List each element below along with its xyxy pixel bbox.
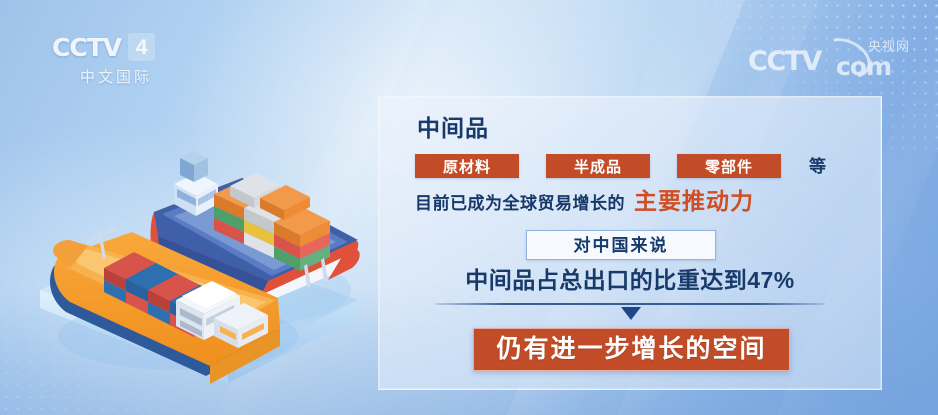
channel-subtitle: 中文国际 bbox=[52, 66, 180, 87]
divider-rule bbox=[435, 303, 825, 305]
cctv4-channel-bug: CCTV 4 中文国际 bbox=[52, 32, 192, 88]
cctv-com-suffix: com bbox=[836, 54, 891, 79]
panel-title: 中间品 bbox=[417, 117, 489, 140]
arrow-down-icon bbox=[621, 307, 641, 320]
info-panel: 中间品 原材料 半成品 零部件 等 目前已成为全球贸易增长的 主要推动力 对中国… bbox=[378, 96, 882, 390]
conclusion-banner: 仍有进一步增长的空间 bbox=[473, 328, 790, 371]
export-share-statistic: 中间品占总出口的比重达到47% bbox=[379, 269, 881, 292]
cctv-wordmark: CCTV bbox=[52, 35, 121, 60]
cctv-com-watermark: CCTV 央视网 com bbox=[748, 42, 916, 84]
channel-number: 4 bbox=[136, 37, 148, 58]
category-tag[interactable]: 原材料 bbox=[415, 154, 519, 178]
tags-suffix-label: 等 bbox=[809, 158, 826, 175]
category-tag[interactable]: 零部件 bbox=[677, 154, 781, 178]
growth-driver-lead-text: 目前已成为全球贸易增长的 bbox=[415, 195, 625, 212]
growth-driver-line: 目前已成为全球贸易增长的 主要推动力 bbox=[415, 190, 754, 213]
china-context-box: 对中国来说 bbox=[526, 230, 716, 260]
china-context-label: 对中国来说 bbox=[574, 237, 669, 254]
ship-bridge bbox=[174, 151, 218, 216]
cctv-wordmark: CCTV bbox=[748, 48, 821, 75]
category-tag[interactable]: 半成品 bbox=[546, 154, 650, 178]
broadcast-graphic-screen: CCTV 4 中文国际 CCTV 央视网 com bbox=[0, 0, 938, 415]
category-tag-row: 原材料 半成品 零部件 等 bbox=[415, 154, 826, 178]
cctv4-logo-row: CCTV 4 bbox=[52, 32, 192, 62]
conclusion-banner-label: 仍有进一步增长的空间 bbox=[496, 337, 766, 362]
container-ships-illustration bbox=[28, 140, 378, 385]
growth-driver-highlight: 主要推动力 bbox=[634, 190, 754, 213]
channel-number-badge: 4 bbox=[128, 33, 155, 61]
